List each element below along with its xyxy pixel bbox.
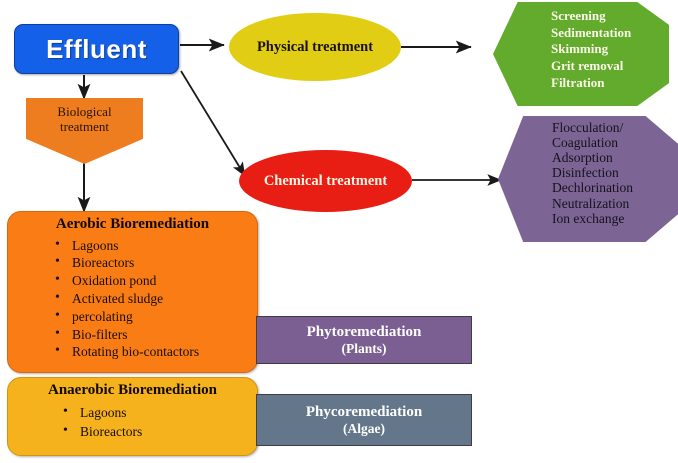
effluent-label: Effluent — [46, 34, 147, 65]
biological-label-line2: treatment — [60, 120, 109, 135]
anaerobic-list: Lagoons Bioreactors — [14, 403, 251, 441]
chemical-op-item: Adsorption — [552, 150, 670, 165]
node-physical-operations[interactable]: Screening Sedimentation Skimming Grit re… — [493, 2, 669, 106]
aerobic-title: Aerobic Bioremediation — [14, 216, 251, 233]
node-effluent[interactable]: Effluent — [14, 24, 179, 74]
chemical-op-item: Flocculation/ — [552, 120, 670, 135]
node-anaerobic-bioremediation[interactable]: Anaerobic Bioremediation Lagoons Bioreac… — [7, 377, 258, 456]
list-item: Lagoons — [72, 237, 251, 255]
node-phycoremediation[interactable]: Phycoremediation (Algae) — [256, 394, 472, 446]
phyco-label-line2: (Algae) — [343, 421, 385, 437]
phyto-label-line2: (Plants) — [342, 341, 387, 357]
list-item: Rotating bio-contactors — [72, 343, 251, 361]
chemical-op-item: Disinfection — [552, 165, 670, 180]
physical-op-item: Screening — [551, 8, 659, 25]
anaerobic-title: Anaerobic Bioremediation — [14, 382, 251, 399]
chemical-op-item: Neutralization — [552, 196, 670, 211]
chemical-op-item: Ion exchange — [552, 211, 670, 226]
node-chemical-treatment[interactable]: Chemical treatment — [239, 150, 412, 212]
list-item: Bio-filters — [72, 326, 251, 344]
chemical-op-item: Coagulation — [552, 135, 670, 150]
physical-treatment-label: Physical treatment — [257, 39, 373, 56]
diagram-canvas: Effluent Biological treatment Physical t… — [0, 0, 678, 463]
node-chemical-operations[interactable]: Flocculation/ Coagulation Adsorption Dis… — [498, 116, 678, 242]
physical-op-item: Filtration — [551, 75, 659, 92]
list-item: Lagoons — [80, 403, 251, 422]
chemical-op-item: Dechlorination — [552, 180, 670, 195]
aerobic-list: Lagoons Bioreactors Oxidation pond Activ… — [14, 237, 251, 362]
physical-op-item: Grit removal — [551, 58, 659, 75]
phyto-label-line1: Phytoremediation — [307, 324, 422, 341]
node-biological-treatment[interactable]: Biological treatment — [26, 98, 143, 164]
list-item: Activated sludge — [72, 290, 251, 308]
arrow-effluent-to-chemical — [181, 71, 245, 176]
list-item: Oxidation pond — [72, 272, 251, 290]
node-aerobic-bioremediation[interactable]: Aerobic Bioremediation Lagoons Bioreacto… — [7, 211, 258, 373]
phyco-label-line1: Phycoremediation — [306, 404, 422, 421]
physical-op-item: Sedimentation — [551, 25, 659, 42]
list-item: Bioreactors — [72, 254, 251, 272]
node-physical-treatment[interactable]: Physical treatment — [229, 13, 401, 81]
list-item: percolating — [72, 308, 251, 326]
node-phytoremediation[interactable]: Phytoremediation (Plants) — [256, 316, 472, 364]
list-item: Bioreactors — [80, 422, 251, 441]
chemical-treatment-label: Chemical treatment — [264, 173, 387, 190]
biological-label-line1: Biological — [57, 105, 111, 120]
physical-op-item: Skimming — [551, 41, 659, 58]
